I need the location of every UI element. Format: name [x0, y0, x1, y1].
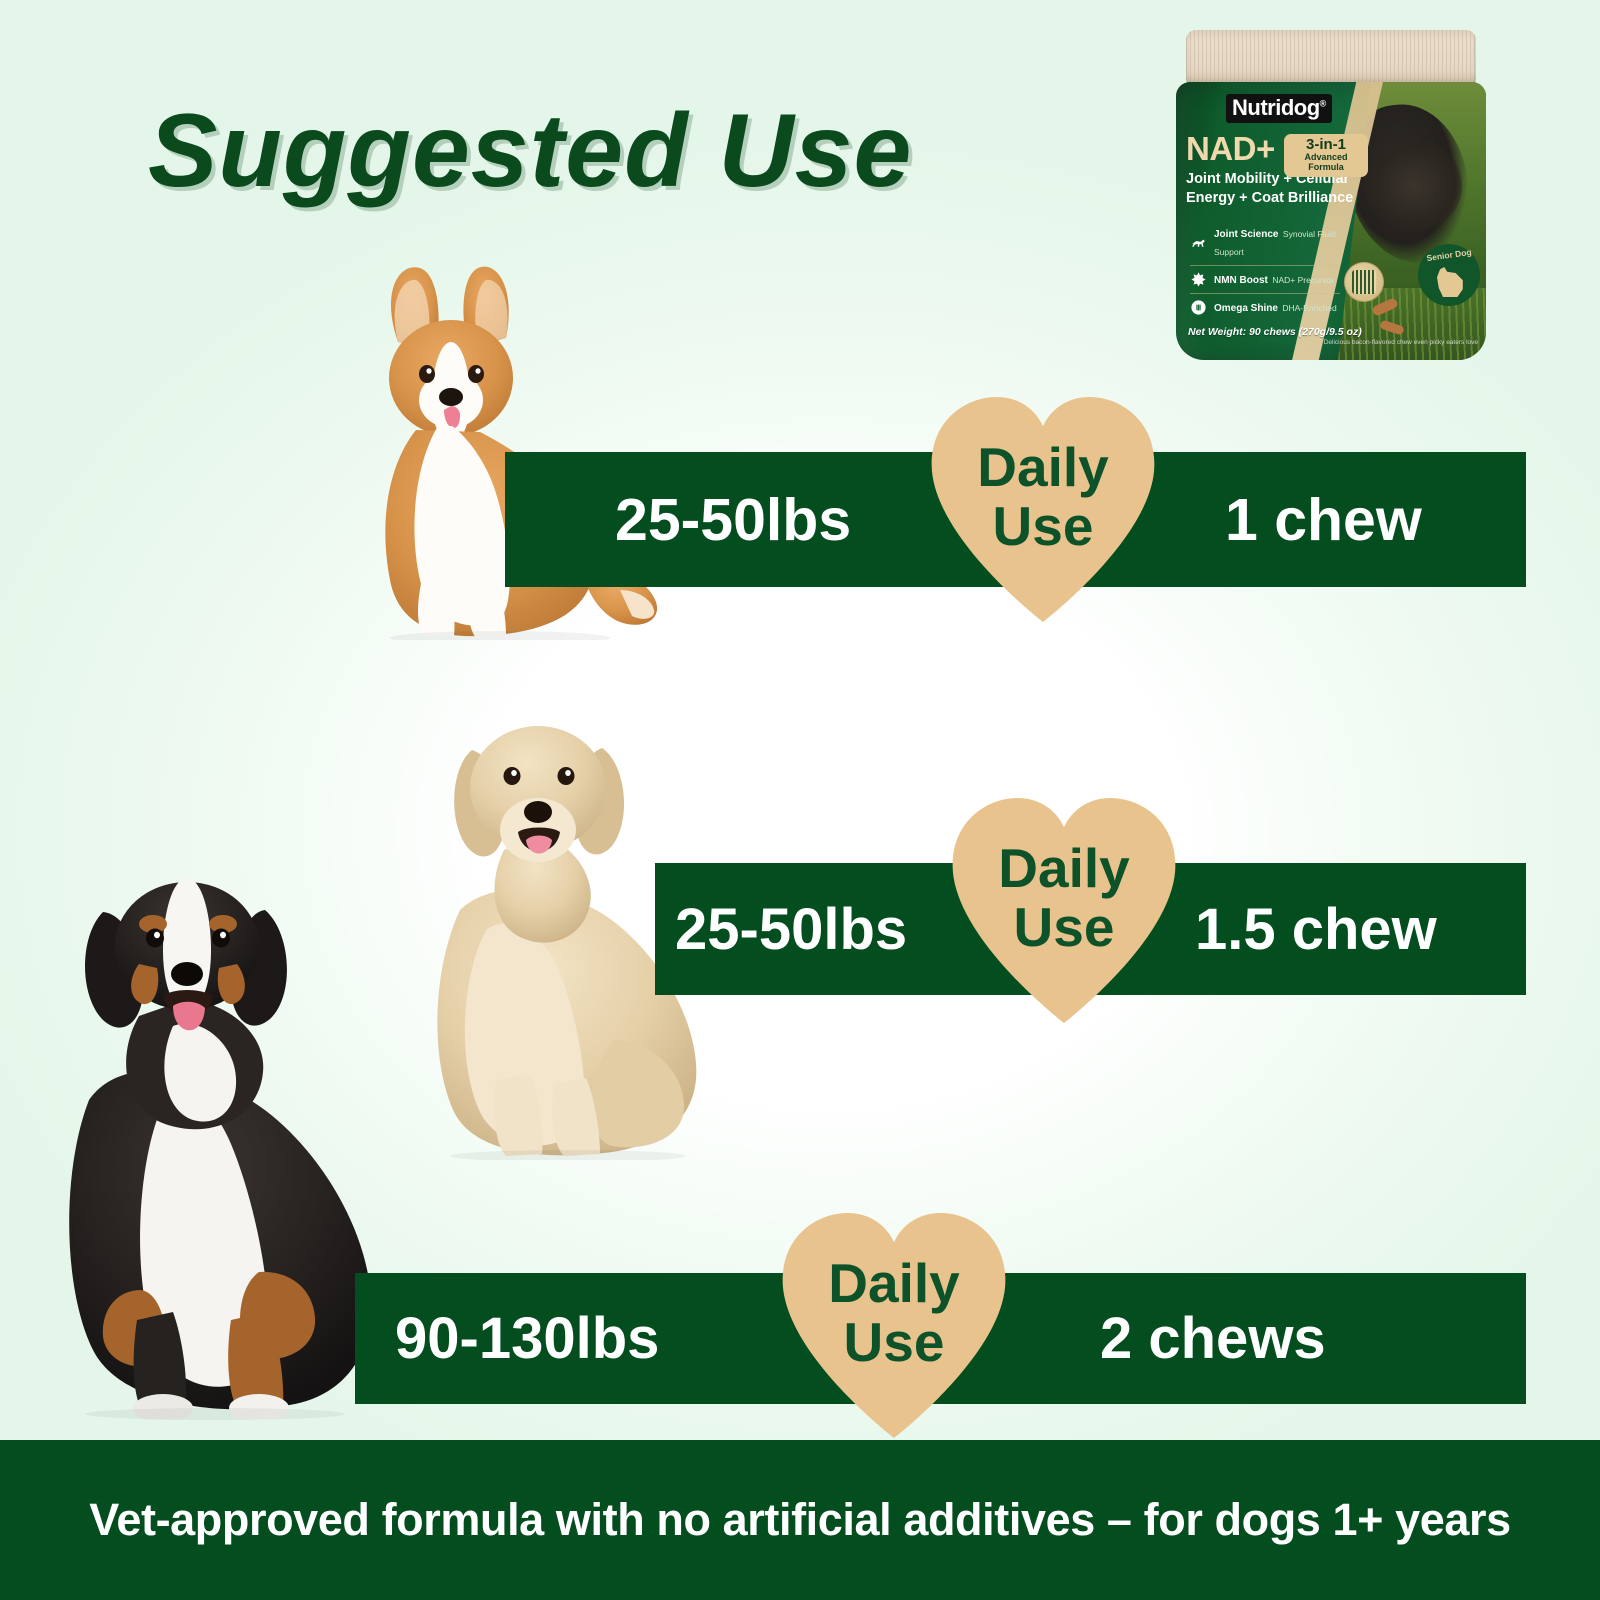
- jar-dog-body: [1366, 140, 1462, 232]
- feature-subtitle: NAD+ Precursor: [1272, 275, 1334, 285]
- feature-title: Omega Shine: [1214, 303, 1278, 314]
- daily-use-heart-2: Daily Use: [948, 798, 1180, 1023]
- brand-logo: Nutridog®: [1226, 94, 1332, 123]
- heart-line2: Use: [844, 1315, 945, 1370]
- quality-seal-icon: [1344, 262, 1384, 302]
- dose-weight-3: 90-130lbs: [395, 1305, 659, 1372]
- jar-label: Nutridog® NAD+ 3-in-1 Advanced Formula J…: [1176, 82, 1486, 360]
- dose-amount-2: 1.5 chew: [1195, 896, 1437, 963]
- capsule-icon: [1190, 299, 1207, 316]
- heart-line1: Daily: [977, 440, 1108, 495]
- jar-fine-print: Delicious bacon-flavored chew even picky…: [1324, 339, 1478, 346]
- brand-name: Nutridog: [1232, 95, 1320, 120]
- footer-banner: Vet-approved formula with no artificial …: [0, 1440, 1600, 1600]
- heart-line1: Daily: [998, 841, 1129, 896]
- senior-dog-badge: Senior Dog: [1418, 244, 1480, 306]
- heart-line1: Daily: [828, 1256, 959, 1311]
- page-title: Suggested Use: [148, 92, 912, 211]
- daily-use-heart-1: Daily Use: [927, 397, 1159, 622]
- seal-inner: [1352, 270, 1376, 294]
- jar-lid: [1186, 30, 1476, 85]
- feature-title: NMN Boost: [1214, 275, 1268, 286]
- product-jar: Nutridog® NAD+ 3-in-1 Advanced Formula J…: [1176, 30, 1486, 360]
- dose-amount-3: 2 chews: [1100, 1305, 1326, 1372]
- feature-item: NMN Boost NAD+ Precursor: [1190, 266, 1340, 294]
- feature-title: Joint Science: [1214, 229, 1278, 240]
- molecule-icon: [1190, 271, 1207, 288]
- feature-list: Joint Science Synovial Fluid Support NMN…: [1190, 220, 1340, 321]
- formula-badge-line2: Advanced Formula: [1286, 153, 1366, 173]
- daily-use-heart-3: Daily Use: [778, 1213, 1010, 1438]
- dose-weight-2: 25-50lbs: [675, 896, 907, 963]
- formula-badge-line1: 3-in-1: [1286, 137, 1366, 153]
- dog-head-silhouette-icon: [1434, 267, 1464, 297]
- registered-mark-icon: ®: [1320, 99, 1326, 109]
- feature-subtitle: DHA-Enriched: [1282, 303, 1336, 313]
- feature-item: Omega Shine DHA-Enriched: [1190, 294, 1340, 321]
- product-name: NAD+: [1186, 130, 1275, 168]
- footer-text: Vet-approved formula with no artificial …: [89, 1494, 1511, 1546]
- formula-badge: 3-in-1 Advanced Formula: [1284, 134, 1368, 177]
- dog-jumping-icon: [1190, 234, 1207, 251]
- daily-use-heart-text-2: Daily Use: [948, 798, 1180, 1023]
- daily-use-heart-text-3: Daily Use: [778, 1213, 1010, 1438]
- heart-line2: Use: [1014, 900, 1115, 955]
- dose-amount-1: 1 chew: [1225, 486, 1422, 554]
- dog-photo-bernese-mountain-dog: [45, 820, 390, 1420]
- net-weight-text: Net Weight: 90 chews (270g/9.5 oz): [1188, 326, 1362, 338]
- dose-weight-1: 25-50lbs: [615, 486, 851, 554]
- suggested-use-infographic: Suggested Use Nutridog® NAD+ 3-in-1 Adva…: [0, 0, 1600, 1600]
- feature-item: Joint Science Synovial Fluid Support: [1190, 220, 1340, 266]
- feature-text: NMN Boost NAD+ Precursor: [1214, 270, 1334, 288]
- feature-text: Joint Science Synovial Fluid Support: [1214, 224, 1340, 260]
- feature-text: Omega Shine DHA-Enriched: [1214, 298, 1337, 316]
- daily-use-heart-text-1: Daily Use: [927, 397, 1159, 622]
- heart-line2: Use: [993, 499, 1094, 554]
